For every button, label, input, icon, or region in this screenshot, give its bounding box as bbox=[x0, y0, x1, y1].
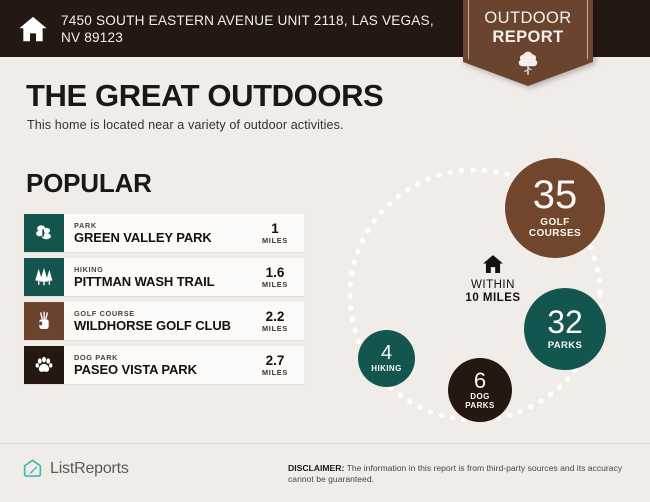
popular-heading: POPULAR bbox=[26, 168, 152, 199]
within-10-miles-diagram: 35 GOLF COURSES 32 PARKS 4 HIKING 6 DOG … bbox=[330, 145, 650, 440]
list-item[interactable]: HIKING PITTMAN WASH TRAIL 1.6 MILES bbox=[24, 258, 304, 296]
outdoor-report-badge: OUTDOOR REPORT bbox=[463, 0, 593, 86]
list-item-distance-unit: MILES bbox=[262, 368, 288, 377]
list-item-distance-value: 1 bbox=[271, 222, 279, 236]
stat-value: 32 bbox=[547, 307, 583, 337]
list-item[interactable]: GOLF COURSE WILDHORSE GOLF CLUB 2.2 MILE… bbox=[24, 302, 304, 340]
list-item-distance: 2.2 MILES bbox=[252, 302, 304, 340]
list-item-distance: 2.7 MILES bbox=[252, 346, 304, 384]
stat-value: 35 bbox=[533, 177, 578, 213]
list-item[interactable]: DOG PARK PASEO VISTA PARK 2.7 MILES bbox=[24, 346, 304, 384]
list-item-name: GREEN VALLEY PARK bbox=[74, 230, 252, 245]
page-title: THE GREAT OUTDOORS bbox=[26, 78, 383, 114]
stat-bubble-golf-courses[interactable]: 35 GOLF COURSES bbox=[505, 158, 605, 258]
disclaimer-label: DISCLAIMER: bbox=[288, 463, 344, 473]
stat-value: 4 bbox=[381, 344, 392, 363]
list-item-name: PASEO VISTA PARK bbox=[74, 362, 252, 377]
stat-label: GOLF COURSES bbox=[529, 217, 581, 240]
center-line-1: WITHIN bbox=[438, 279, 548, 292]
list-item-distance-value: 2.2 bbox=[266, 310, 285, 324]
list-item-distance-value: 1.6 bbox=[266, 266, 285, 280]
list-item-distance-unit: MILES bbox=[262, 324, 288, 333]
center-line-2: 10 MILES bbox=[438, 292, 548, 305]
stat-value: 6 bbox=[474, 370, 486, 391]
list-item-distance-value: 2.7 bbox=[266, 354, 285, 368]
stat-bubble-hiking[interactable]: 4 HIKING bbox=[358, 330, 415, 387]
tree-icon bbox=[463, 50, 593, 81]
stat-label: PARKS bbox=[548, 340, 583, 351]
list-item-category: GOLF COURSE bbox=[74, 309, 252, 318]
footer-divider bbox=[0, 443, 650, 444]
list-item-category: DOG PARK bbox=[74, 353, 252, 362]
list-item-category: HIKING bbox=[74, 265, 252, 274]
badge-line-2: REPORT bbox=[463, 28, 593, 47]
list-item-name: WILDHORSE GOLF CLUB bbox=[74, 318, 252, 333]
golf-bag-icon bbox=[24, 302, 64, 340]
list-item-distance: 1.6 MILES bbox=[252, 258, 304, 296]
list-item-distance-unit: MILES bbox=[262, 236, 288, 245]
trees-icon bbox=[24, 258, 64, 296]
listreports-house-icon bbox=[22, 458, 43, 479]
list-item-name: PITTMAN WASH TRAIL bbox=[74, 274, 252, 289]
listreports-logo[interactable]: ListReports bbox=[22, 458, 129, 479]
diagram-center-label: WITHIN 10 MILES bbox=[438, 253, 548, 305]
list-item-distance: 1 MILES bbox=[252, 214, 304, 252]
list-item-category: PARK bbox=[74, 221, 252, 230]
list-item-distance-unit: MILES bbox=[262, 280, 288, 289]
property-address: 7450 SOUTH EASTERN AVENUE UNIT 2118, LAS… bbox=[61, 12, 451, 46]
outdoor-report-page: 7450 SOUTH EASTERN AVENUE UNIT 2118, LAS… bbox=[0, 0, 650, 502]
home-icon bbox=[482, 253, 504, 275]
paw-icon bbox=[24, 346, 64, 384]
stat-bubble-dog-parks[interactable]: 6 DOG PARKS bbox=[448, 358, 512, 422]
badge-line-1: OUTDOOR bbox=[463, 9, 593, 28]
popular-list: PARK GREEN VALLEY PARK 1 MILES bbox=[24, 214, 304, 390]
disclaimer: DISCLAIMER: The information in this repo… bbox=[288, 463, 638, 486]
home-icon bbox=[18, 14, 48, 44]
stat-label: DOG PARKS bbox=[465, 392, 494, 410]
park-icon bbox=[24, 214, 64, 252]
page-subtitle: This home is located near a variety of o… bbox=[27, 118, 344, 132]
list-item[interactable]: PARK GREEN VALLEY PARK 1 MILES bbox=[24, 214, 304, 252]
logo-text: ListReports bbox=[50, 460, 129, 478]
badge-text: OUTDOOR REPORT bbox=[463, 9, 593, 47]
stat-label: HIKING bbox=[371, 364, 401, 373]
